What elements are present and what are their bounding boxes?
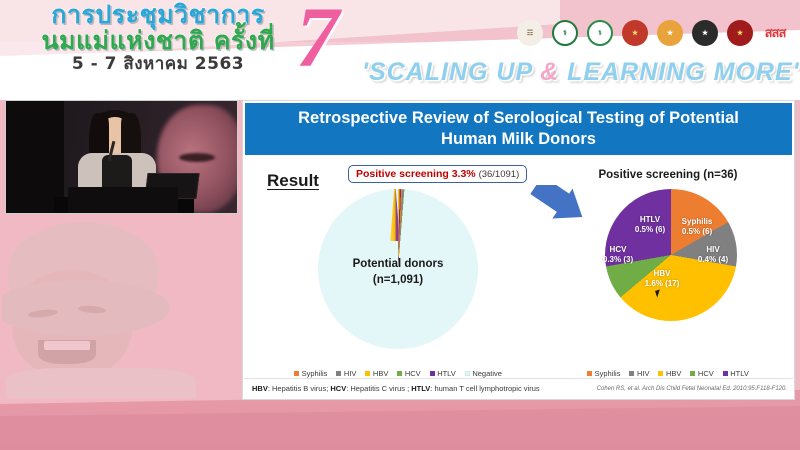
logo-item: ★ <box>655 20 685 46</box>
legend-swatch <box>294 371 299 376</box>
logo-item: ⚕ <box>585 20 615 46</box>
potential-donors-count: (n=1,091) <box>273 273 523 289</box>
slice-label-hcv-name: HCV <box>599 245 637 255</box>
slice-label-hcv-value: 0.3% (3) <box>599 255 637 265</box>
slice-label-hiv: HIV 0.4% (4) <box>691 245 735 266</box>
legend-label: Syphilis <box>595 369 621 378</box>
legend-label: HTLV <box>730 369 749 378</box>
legend-label: Negative <box>472 369 502 378</box>
legend-swatch <box>723 371 728 376</box>
tagline-part1: 'SCALING UP <box>362 58 540 86</box>
legend-potential-donors: SyphilisHIVHBVHCVHTLVNegative <box>273 369 523 378</box>
slice-label-hiv-value: 0.4% (4) <box>691 255 735 265</box>
legend-swatch <box>658 371 663 376</box>
legend-item: Syphilis <box>294 369 327 378</box>
emblem-logo-4-icon: ★ <box>622 20 648 46</box>
legend-item: HTLV <box>430 369 456 378</box>
potential-donors-label: Potential donors (n=1,091) <box>273 257 523 288</box>
slide-footnote: HBV: Hepatitis B virus; HCV: Hepatitis C… <box>244 378 793 398</box>
citation-reference: Cohen RS, et al. Arch Dis Child Fetal Ne… <box>597 386 787 392</box>
thai-title-line2: นมแม่แห่งชาติ ครั้งที่ <box>18 28 298 53</box>
watermark-shirt <box>6 368 196 398</box>
legend-swatch <box>336 371 341 376</box>
logo-item: ☶ <box>515 20 545 46</box>
conference-tagline: 'SCALING UP & LEARNING MORE' <box>362 58 800 87</box>
video-foreground-face-eye <box>179 153 215 162</box>
video-podium <box>68 187 178 214</box>
logo-item: ★ <box>690 20 720 46</box>
legend-label: HIV <box>344 369 357 378</box>
emblem-logo-1-icon: ☶ <box>517 20 543 46</box>
legend-swatch <box>397 371 402 376</box>
legend-label: HCV <box>405 369 421 378</box>
legend-item: HTLV <box>723 369 749 378</box>
emblem-logo-7-icon: ★ <box>727 20 753 46</box>
slice-label-htlv: HTLV 0.5% (6) <box>627 215 673 236</box>
abbreviation-note: HBV: Hepatitis B virus; HCV: Hepatitis C… <box>252 384 540 393</box>
blue-arrow-icon <box>528 185 590 231</box>
legend-swatch <box>430 371 435 376</box>
legend-swatch <box>465 371 470 376</box>
logo-item: ★ <box>620 20 650 46</box>
potential-donors-title: Potential donors <box>273 257 523 273</box>
slice-label-hiv-name: HIV <box>691 245 735 255</box>
conference-header-banner: การประชุมวิชาการ นมแม่แห่งชาติ ครั้งที่ … <box>0 0 800 97</box>
slice-label-hcv: HCV 0.3% (3) <box>599 245 637 266</box>
slide-body: Result Positive screening 3.3% (36/1091)… <box>243 157 794 401</box>
legend-item: HIV <box>336 369 356 378</box>
legend-swatch <box>365 371 370 376</box>
child-photo-watermark <box>2 218 217 398</box>
slice-label-hbv-name: HBV <box>635 269 689 279</box>
speaker-video-panel[interactable] <box>5 100 238 214</box>
tagline-ampersand: & <box>540 58 559 86</box>
logo-item: ⚕ <box>550 20 580 46</box>
sss-logo: สสส <box>765 27 786 40</box>
legend-label: Syphilis <box>302 369 328 378</box>
emblem-logo-2-icon: ⚕ <box>552 20 578 46</box>
legend-item: HBV <box>658 369 681 378</box>
legend-label: HCV <box>698 369 714 378</box>
abbreviation-term: HTLV <box>411 384 430 393</box>
legend-label: HIV <box>637 369 650 378</box>
slice-label-syphilis-value: 0.5% (6) <box>671 227 723 237</box>
watermark-teeth <box>44 341 90 350</box>
slide-title: Retrospective Review of Serological Test… <box>245 103 792 155</box>
slice-label-syphilis-name: Syphilis <box>671 217 723 227</box>
legend-item: HCV <box>397 369 420 378</box>
slice-label-syphilis: Syphilis 0.5% (6) <box>671 217 723 238</box>
positive-screening-title: Positive screening (n=36) <box>548 169 788 181</box>
legend-item: Negative <box>465 369 502 378</box>
legend-item: HIV <box>629 369 649 378</box>
slice-label-hbv: HBV 1.6% (17) <box>635 269 689 290</box>
abbreviation-term: HCV <box>330 384 346 393</box>
legend-swatch <box>587 371 592 376</box>
slice-label-hbv-value: 1.6% (17) <box>635 279 689 289</box>
edition-number: 7 <box>296 0 339 80</box>
legend-item: Syphilis <box>587 369 620 378</box>
sponsor-logos: ☶ ⚕ ⚕ ★ ★ ★ ★ สสส <box>515 20 790 46</box>
logo-item-sss: สสส <box>760 27 790 40</box>
emblem-logo-3-icon: ⚕ <box>587 20 613 46</box>
legend-item: HCV <box>690 369 713 378</box>
slice-label-htlv-name: HTLV <box>627 215 673 225</box>
thai-title-line1: การประชุมวิชาการ <box>18 2 298 27</box>
presentation-slide: Retrospective Review of Serological Test… <box>242 100 795 400</box>
legend-item: HBV <box>365 369 388 378</box>
conference-date-thai: 5 - 7 สิงหาคม 2563 <box>18 56 298 73</box>
legend-label: HTLV <box>437 369 456 378</box>
emblem-logo-6-icon: ★ <box>692 20 718 46</box>
legend-label: HBV <box>373 369 388 378</box>
legend-label: HBV <box>666 369 681 378</box>
legend-positive-screening: SyphilisHIVHBVHCVHTLV <box>548 369 788 378</box>
legend-swatch <box>629 371 634 376</box>
conference-title-thai: การประชุมวิชาการ นมแม่แห่งชาติ ครั้งที่ … <box>18 2 298 73</box>
tagline-part2: LEARNING MORE' <box>559 58 799 86</box>
logo-item: ★ <box>725 20 755 46</box>
slice-label-htlv-value: 0.5% (6) <box>627 225 673 235</box>
emblem-logo-5-icon: ★ <box>657 20 683 46</box>
potential-donors-chart: Potential donors (n=1,091) <box>273 179 523 369</box>
abbreviation-term: HBV <box>252 384 268 393</box>
legend-swatch <box>690 371 695 376</box>
